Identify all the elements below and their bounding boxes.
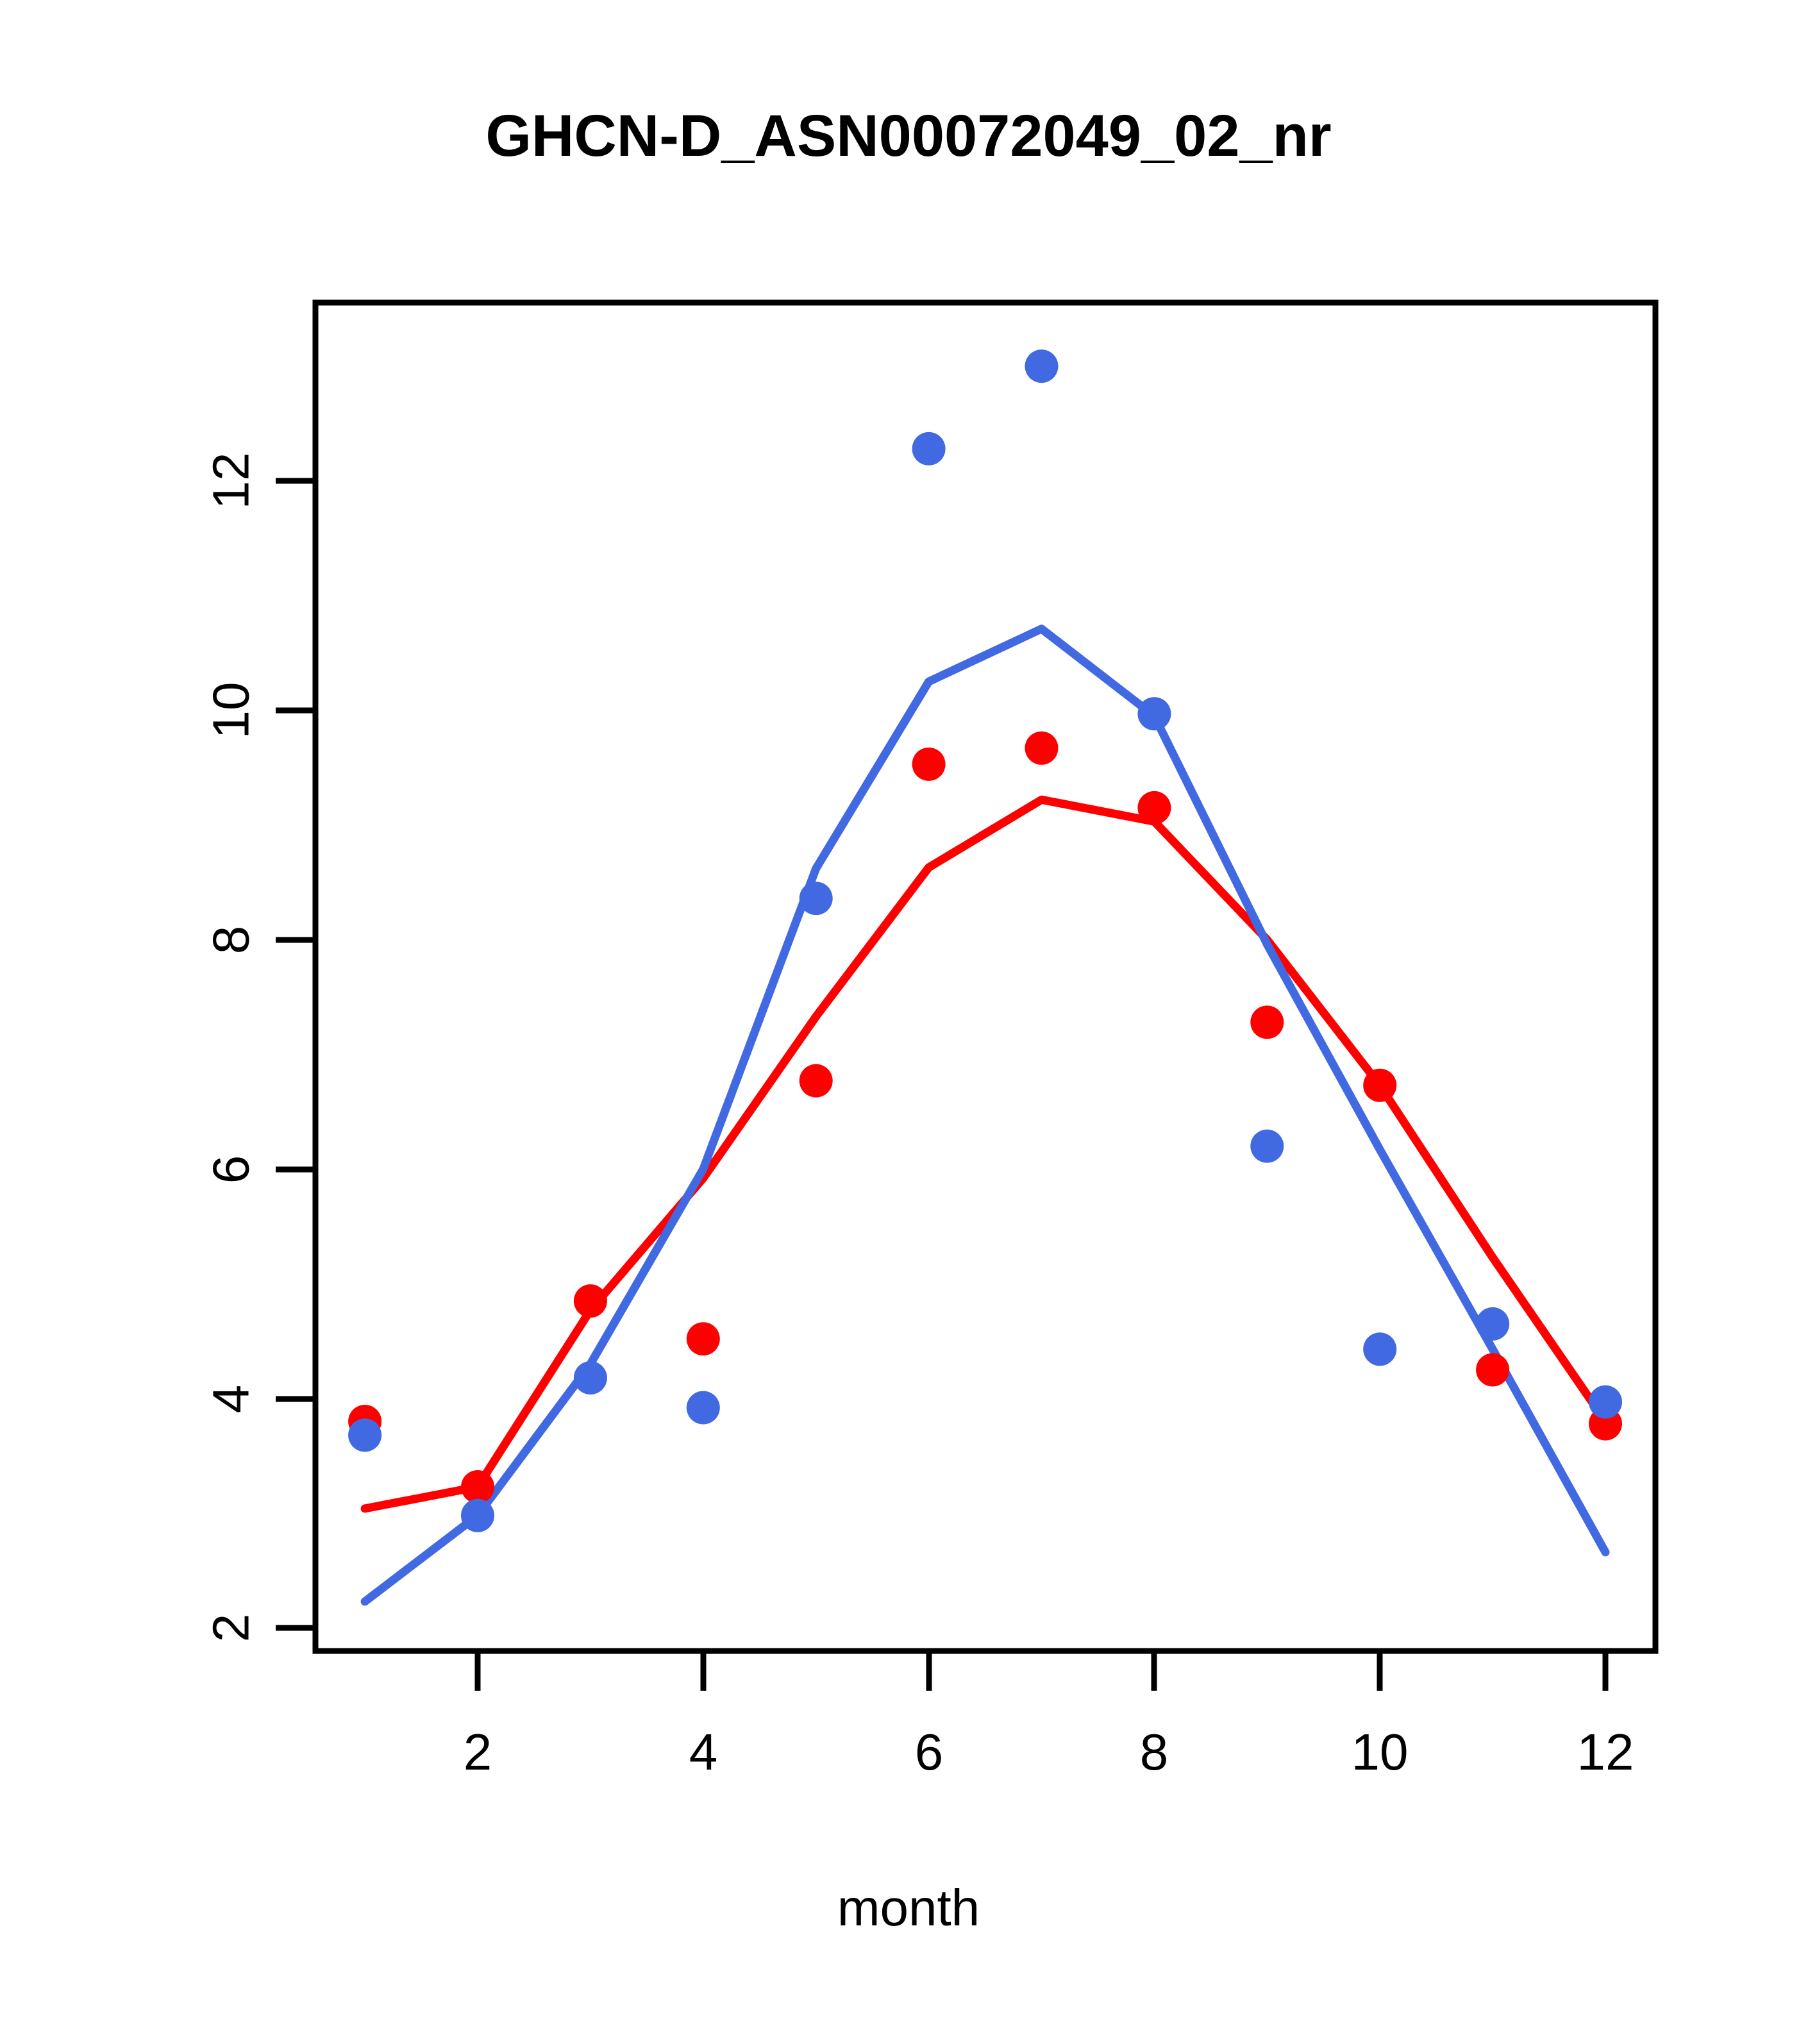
data-point — [1476, 1353, 1509, 1387]
data-point — [1250, 1005, 1284, 1039]
series-line-blue-line — [365, 629, 1605, 1602]
chart-canvas: 12 10 8 6 4 2 2 4 6 8 10 12 — [0, 0, 1817, 2044]
data-point — [912, 432, 946, 465]
x-axis-title: month — [0, 1879, 1817, 1938]
data-point — [1025, 349, 1059, 383]
series-lines-layer — [365, 629, 1605, 1602]
y-axis-tick-labels: 12 10 8 6 4 2 — [203, 453, 260, 1643]
data-point — [687, 1391, 720, 1425]
data-point — [800, 1064, 833, 1098]
data-point — [1137, 697, 1171, 730]
y-axis-ticks — [276, 481, 315, 1628]
series-line-red-line — [365, 800, 1605, 1509]
y-tick-label: 12 — [203, 453, 260, 510]
data-point — [912, 748, 946, 781]
y-tick-label: 2 — [203, 1614, 260, 1643]
data-point — [687, 1322, 720, 1355]
y-tick-label: 6 — [203, 1155, 260, 1184]
x-tick-label: 2 — [464, 1723, 492, 1780]
data-point — [1363, 1069, 1396, 1102]
plot-frame — [315, 303, 1655, 1651]
data-point — [1363, 1332, 1396, 1366]
data-point — [461, 1499, 494, 1532]
y-tick-label: 10 — [203, 682, 260, 739]
data-point — [461, 1470, 494, 1504]
data-point — [1137, 791, 1171, 825]
data-point — [800, 882, 833, 915]
data-point — [348, 1418, 381, 1452]
data-point — [1250, 1130, 1284, 1163]
x-tick-label: 10 — [1352, 1723, 1409, 1780]
data-point — [1476, 1307, 1509, 1341]
y-tick-label: 4 — [203, 1385, 260, 1414]
x-tick-label: 12 — [1577, 1723, 1634, 1780]
x-tick-label: 6 — [915, 1723, 944, 1780]
y-tick-label: 8 — [203, 926, 260, 955]
chart-page: GHCN-D_ASN00072049_02_nr 12 10 8 6 4 2 — [0, 0, 1817, 2044]
x-tick-label: 4 — [689, 1723, 718, 1780]
data-point — [574, 1361, 607, 1395]
data-point — [1025, 732, 1059, 765]
x-axis-tick-labels: 2 4 6 8 10 12 — [464, 1723, 1634, 1780]
data-point — [574, 1284, 607, 1318]
data-point — [1589, 1386, 1622, 1419]
x-tick-label: 8 — [1140, 1723, 1169, 1780]
series-points-layer — [348, 349, 1622, 1532]
x-axis-ticks — [478, 1651, 1605, 1691]
